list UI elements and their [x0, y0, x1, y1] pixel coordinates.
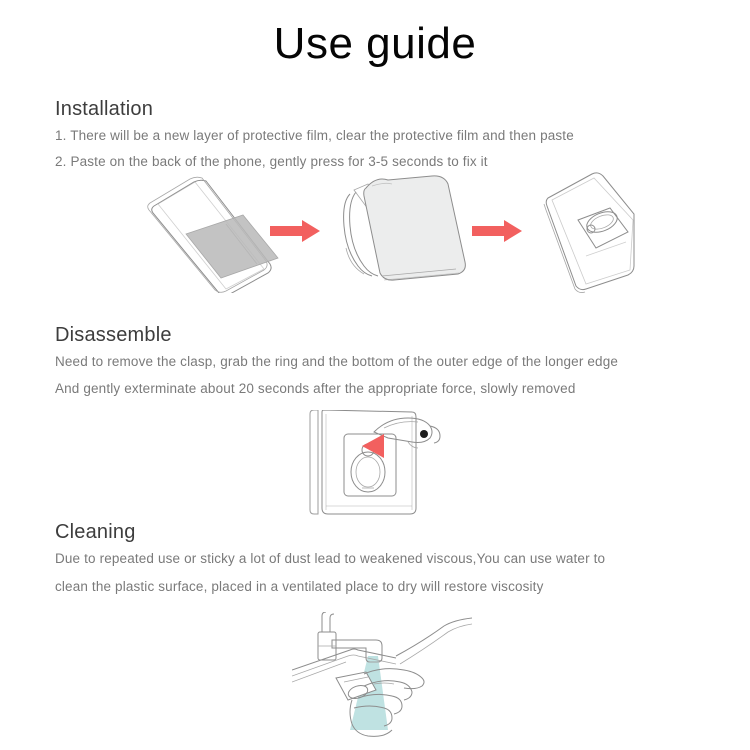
installation-steps-illustration — [120, 168, 640, 293]
phone-standing-on-ring-kickstand — [344, 176, 466, 280]
cleaning-line-2: clean the plastic surface, placed in a v… — [55, 577, 543, 597]
red-triangle-arrow-left — [362, 434, 384, 458]
section-heading-disassemble: Disassemble — [55, 322, 172, 348]
red-arrow-right-1 — [270, 220, 320, 242]
installation-step-1: 1. There will be a new layer of protecti… — [55, 126, 574, 146]
phone-back-with-ring-holder — [310, 410, 416, 514]
phone-with-ring-holder-attached — [544, 173, 634, 293]
use-guide-page: Use guide Installation 1. There will be … — [0, 0, 750, 750]
phone-with-protective-film — [148, 177, 278, 293]
cleaning-illustration — [292, 612, 472, 748]
disassemble-line-2: And gently exterminate about 20 seconds … — [55, 379, 576, 399]
red-arrow-right-2 — [472, 220, 522, 242]
disassemble-line-1: Need to remove the clasp, grab the ring … — [55, 352, 618, 372]
section-heading-installation: Installation — [55, 96, 153, 122]
section-heading-cleaning: Cleaning — [55, 519, 136, 545]
page-title: Use guide — [0, 16, 750, 72]
faucet — [318, 612, 382, 662]
cleaning-line-1: Due to repeated use or sticky a lot of d… — [55, 549, 605, 569]
disassemble-illustration — [288, 410, 478, 520]
